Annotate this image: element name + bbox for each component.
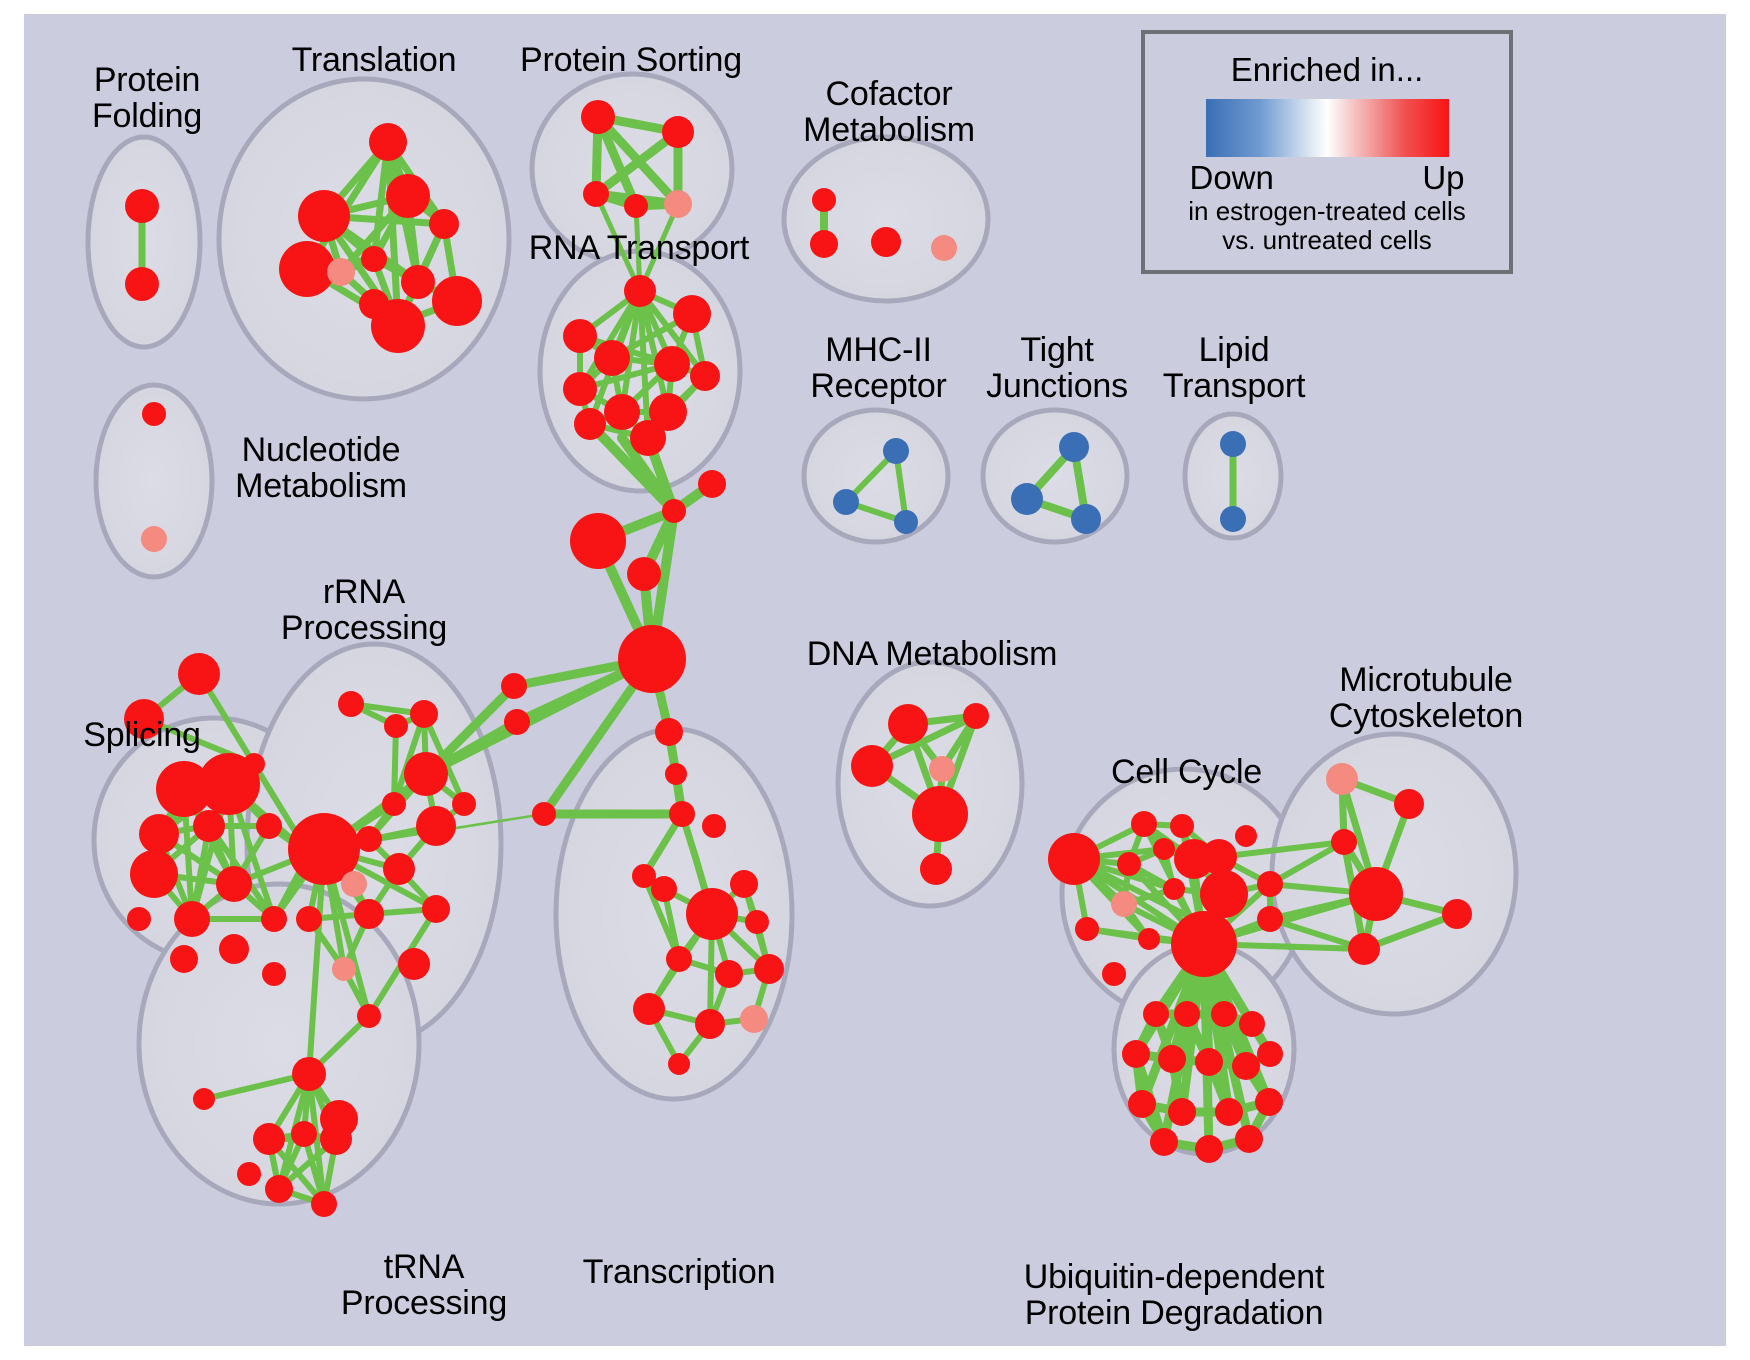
- node[interactable]: [341, 871, 367, 897]
- node[interactable]: [416, 806, 456, 846]
- node[interactable]: [912, 786, 968, 842]
- node[interactable]: [1220, 506, 1246, 532]
- node[interactable]: [1195, 1048, 1223, 1076]
- node[interactable]: [920, 853, 952, 885]
- node[interactable]: [371, 299, 425, 353]
- node[interactable]: [715, 960, 743, 988]
- node[interactable]: [1201, 839, 1237, 875]
- node[interactable]: [1349, 867, 1403, 921]
- node[interactable]: [354, 899, 384, 929]
- cluster-label-transcription: Transcription: [554, 1254, 804, 1290]
- legend-scale-labels: Down Up: [1190, 159, 1465, 197]
- node[interactable]: [654, 346, 690, 382]
- node[interactable]: [883, 438, 909, 464]
- node[interactable]: [1111, 891, 1137, 917]
- node[interactable]: [296, 906, 322, 932]
- node[interactable]: [851, 745, 893, 787]
- node[interactable]: [1048, 833, 1100, 885]
- node[interactable]: [432, 276, 482, 326]
- node[interactable]: [369, 123, 407, 161]
- node[interactable]: [702, 814, 726, 838]
- cluster-label-protein-sorting: Protein Sorting: [496, 42, 766, 78]
- node[interactable]: [664, 190, 692, 218]
- node[interactable]: [662, 116, 694, 148]
- node[interactable]: [292, 1057, 326, 1091]
- node[interactable]: [1239, 1011, 1265, 1037]
- node[interactable]: [253, 1123, 285, 1155]
- cluster-label-translation: Translation: [274, 42, 474, 78]
- cluster-label-dna-metabolism: DNA Metabolism: [802, 636, 1062, 672]
- node[interactable]: [139, 814, 179, 854]
- node[interactable]: [1257, 906, 1283, 932]
- node[interactable]: [627, 557, 661, 591]
- node[interactable]: [624, 275, 656, 307]
- cluster-label-cofactor-metabolism: Cofactor Metabolism: [784, 76, 994, 149]
- hull-tight-junctions: [983, 410, 1127, 542]
- node[interactable]: [833, 489, 859, 515]
- node[interactable]: [690, 361, 720, 391]
- node[interactable]: [894, 510, 918, 534]
- node[interactable]: [1138, 928, 1160, 950]
- cluster-label-trna-processing: tRNA Processing: [314, 1249, 534, 1322]
- node[interactable]: [1163, 878, 1185, 900]
- node[interactable]: [1131, 811, 1157, 837]
- node[interactable]: [1122, 1040, 1150, 1068]
- cluster-label-ubiquitin: Ubiquitin-dependent Protein Degradation: [964, 1259, 1384, 1332]
- node[interactable]: [963, 703, 989, 729]
- node[interactable]: [1394, 789, 1424, 819]
- node[interactable]: [332, 957, 356, 981]
- node[interactable]: [1200, 870, 1248, 918]
- legend-title: Enriched in...: [1145, 51, 1509, 89]
- legend-caption-line1: in estrogen-treated cells: [1145, 197, 1509, 226]
- node[interactable]: [1143, 1001, 1169, 1027]
- node[interactable]: [888, 704, 928, 744]
- node[interactable]: [127, 907, 151, 931]
- node[interactable]: [1257, 1041, 1283, 1067]
- node[interactable]: [174, 901, 210, 937]
- node[interactable]: [219, 934, 249, 964]
- node[interactable]: [401, 265, 435, 299]
- node[interactable]: [170, 945, 198, 973]
- node[interactable]: [1158, 1045, 1186, 1073]
- node[interactable]: [668, 1053, 690, 1075]
- node[interactable]: [382, 792, 406, 816]
- node[interactable]: [256, 813, 282, 839]
- node[interactable]: [1117, 852, 1141, 876]
- node[interactable]: [686, 888, 738, 940]
- node[interactable]: [563, 319, 597, 353]
- legend-caption-line2: vs. untreated cells: [1145, 226, 1509, 255]
- node[interactable]: [1075, 917, 1099, 941]
- cluster-label-tight-junctions: Tight Junctions: [962, 332, 1152, 405]
- node[interactable]: [1071, 504, 1101, 534]
- cluster-label-rrna-processing: rRNA Processing: [264, 574, 464, 647]
- node[interactable]: [327, 258, 355, 286]
- node[interactable]: [237, 1162, 261, 1186]
- node[interactable]: [141, 526, 167, 552]
- node[interactable]: [1102, 962, 1126, 986]
- node[interactable]: [1059, 432, 1089, 462]
- node[interactable]: [1011, 483, 1043, 515]
- node[interactable]: [594, 340, 630, 376]
- cluster-label-splicing: Splicing: [62, 717, 222, 753]
- node[interactable]: [1153, 838, 1175, 860]
- node[interactable]: [730, 870, 758, 898]
- node[interactable]: [1348, 933, 1380, 965]
- node[interactable]: [871, 227, 901, 257]
- cluster-label-microtubule: Microtubule Cytoskeleton: [1296, 662, 1556, 735]
- hull-mhc-ii: [804, 410, 948, 542]
- cluster-label-rna-transport: RNA Transport: [504, 230, 774, 266]
- node[interactable]: [193, 1088, 215, 1110]
- node[interactable]: [125, 189, 159, 223]
- node[interactable]: [1257, 871, 1283, 897]
- node[interactable]: [532, 802, 556, 826]
- node[interactable]: [265, 1175, 293, 1203]
- legend-panel: Enriched in... Down Up in estrogen-treat…: [1141, 30, 1513, 274]
- node[interactable]: [665, 763, 687, 785]
- node[interactable]: [1442, 899, 1472, 929]
- node[interactable]: [311, 1191, 337, 1217]
- node[interactable]: [581, 100, 615, 134]
- node[interactable]: [745, 910, 769, 934]
- cluster-label-cell-cycle: Cell Cycle: [1094, 754, 1279, 790]
- node[interactable]: [1326, 763, 1358, 795]
- node[interactable]: [504, 709, 530, 735]
- node[interactable]: [142, 402, 166, 426]
- node[interactable]: [404, 752, 448, 796]
- node[interactable]: [501, 673, 527, 699]
- node[interactable]: [666, 946, 692, 972]
- node[interactable]: [357, 1004, 381, 1028]
- node[interactable]: [261, 906, 287, 932]
- node[interactable]: [320, 1123, 352, 1155]
- node[interactable]: [1150, 1128, 1178, 1156]
- node[interactable]: [630, 420, 666, 456]
- node[interactable]: [624, 194, 648, 218]
- node[interactable]: [1168, 1098, 1196, 1126]
- node[interactable]: [1331, 829, 1357, 855]
- node[interactable]: [361, 246, 387, 272]
- node[interactable]: [178, 653, 220, 695]
- node[interactable]: [398, 948, 430, 980]
- node[interactable]: [604, 394, 640, 430]
- node[interactable]: [291, 1121, 317, 1147]
- node[interactable]: [262, 962, 286, 986]
- node[interactable]: [570, 513, 626, 569]
- node[interactable]: [298, 190, 350, 242]
- node[interactable]: [662, 499, 686, 523]
- legend-low-label: Down: [1190, 159, 1274, 197]
- cluster-label-nucleotide-metabolism: Nucleotide Metabolism: [206, 432, 436, 505]
- hull-translation: [219, 79, 509, 399]
- figure-root: Protein Folding Translation Protein Sort…: [0, 0, 1750, 1360]
- node[interactable]: [1215, 1098, 1243, 1126]
- node[interactable]: [1128, 1090, 1156, 1118]
- legend-color-gradient-bar: [1206, 99, 1449, 157]
- node[interactable]: [574, 408, 606, 440]
- node[interactable]: [1232, 1052, 1260, 1080]
- node[interactable]: [563, 372, 597, 406]
- node[interactable]: [193, 810, 225, 842]
- node[interactable]: [698, 470, 726, 498]
- cluster-label-mhc-ii-receptor: MHC-II Receptor: [786, 332, 971, 405]
- node[interactable]: [1174, 1001, 1200, 1027]
- node[interactable]: [216, 866, 252, 902]
- node[interactable]: [632, 864, 656, 888]
- node[interactable]: [1255, 1088, 1283, 1116]
- node[interactable]: [452, 792, 476, 816]
- node[interactable]: [1235, 1125, 1263, 1153]
- node[interactable]: [669, 801, 695, 827]
- node[interactable]: [695, 1009, 725, 1039]
- node[interactable]: [1220, 431, 1246, 457]
- node[interactable]: [383, 853, 415, 885]
- node[interactable]: [410, 700, 438, 728]
- cluster-label-lipid-transport: Lipid Transport: [1138, 332, 1330, 405]
- node[interactable]: [812, 188, 836, 212]
- node[interactable]: [1235, 825, 1257, 847]
- node[interactable]: [422, 895, 450, 923]
- node[interactable]: [1195, 1135, 1223, 1163]
- node[interactable]: [125, 267, 159, 301]
- node[interactable]: [583, 181, 609, 207]
- node[interactable]: [384, 714, 408, 738]
- node[interactable]: [1170, 814, 1194, 838]
- node[interactable]: [1211, 1001, 1237, 1027]
- node[interactable]: [1171, 911, 1237, 977]
- node[interactable]: [386, 174, 430, 218]
- node[interactable]: [429, 209, 459, 239]
- node[interactable]: [130, 850, 178, 898]
- node[interactable]: [618, 625, 686, 693]
- node[interactable]: [929, 756, 955, 782]
- node[interactable]: [198, 753, 260, 815]
- node[interactable]: [754, 954, 784, 984]
- node[interactable]: [810, 230, 838, 258]
- node[interactable]: [740, 1005, 768, 1033]
- node[interactable]: [673, 295, 711, 333]
- node[interactable]: [338, 691, 364, 717]
- hull-cofactor-metabolism: [784, 137, 988, 301]
- legend-high-label: Up: [1422, 159, 1464, 197]
- node[interactable]: [279, 241, 335, 297]
- node[interactable]: [655, 718, 683, 746]
- network-canvas: Protein Folding Translation Protein Sort…: [24, 14, 1726, 1346]
- cluster-label-protein-folding: Protein Folding: [72, 62, 222, 135]
- node[interactable]: [633, 993, 665, 1025]
- node[interactable]: [931, 235, 957, 261]
